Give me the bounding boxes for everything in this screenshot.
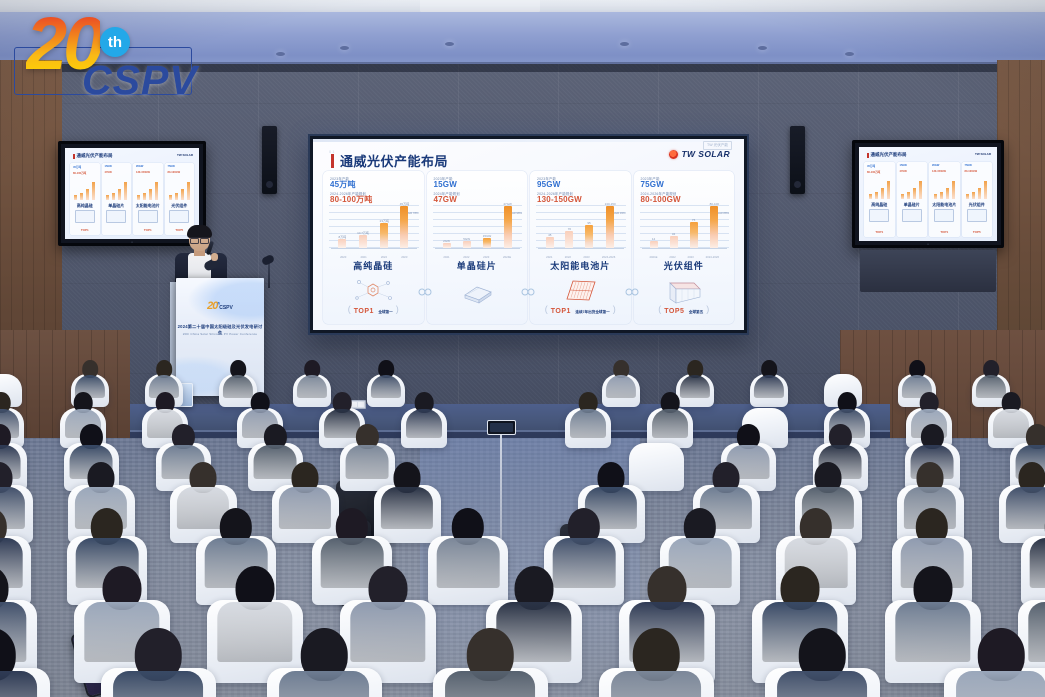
mini-bar <box>118 189 121 200</box>
mini-product-art <box>106 210 126 223</box>
mini-bar-chart <box>136 178 160 200</box>
side-screen-right[interactable]: 通威光伏产能布局 TW SOLAR 45万吨 80-100万吨 高纯晶硅 TOP… <box>852 140 1004 248</box>
mini-rank: TOP1 <box>70 228 100 232</box>
watermark-brand: CSPV <box>82 57 198 104</box>
bar-value-label: 15GW <box>483 234 492 238</box>
podium-logo: 20thCSPV <box>207 300 233 312</box>
mini-bar-chart <box>867 177 892 199</box>
audience-member <box>647 392 693 435</box>
mini-bar <box>92 182 95 200</box>
podium-logo-number: 20 <box>207 300 217 312</box>
bar <box>443 243 451 248</box>
audience-torso <box>0 671 37 697</box>
title-accent-bar <box>331 154 334 168</box>
mini-bar <box>181 189 184 200</box>
audience-torso <box>956 671 1045 697</box>
mini-logo-right: TW SOLAR <box>975 152 991 156</box>
audience-member <box>599 628 714 697</box>
bar-value-label: 80-100 <box>710 202 719 206</box>
panel-kpi-current: 2023年产能 75GW <box>641 176 664 189</box>
mini-kpi-current: 75GW <box>168 165 175 168</box>
audience-member <box>972 360 1010 396</box>
audience-member <box>101 628 216 697</box>
watermark-ordinal-badge: th <box>100 27 130 57</box>
bar-series: 8万吨 10.7万吨 23万吨 45万吨 <box>333 205 415 248</box>
kpi-value: 80-100万吨 <box>330 196 373 204</box>
slide-content: 01 通威光伏产能布局 TW 光伏产能 TW SOLAR 2023年产能 45万… <box>313 139 744 330</box>
audience-torso <box>570 409 606 438</box>
bracket-left-icon: ( <box>348 304 351 314</box>
downlight-4 <box>620 42 629 46</box>
audience-torso <box>279 671 369 697</box>
mini-bar <box>907 192 910 199</box>
bar-group: 5GW <box>463 237 471 249</box>
slide-panel-3: 2023年产能 95GW 2024-2026年产能规划 130-150GW CA… <box>530 171 631 324</box>
mini-kpi-current: 15GW <box>105 165 112 168</box>
mini-bar-chart <box>932 177 957 199</box>
audience-torso <box>652 409 688 438</box>
mini-kpi-current: 45万吨 <box>73 165 81 169</box>
conference-hall-photo: 01 通威光伏产能布局 TW 光伏产能 TW SOLAR 2023年产能 45万… <box>0 0 1045 697</box>
panel-bar-chart: CAGR 78% 8万吨 10.7万吨 23万吨 45万吨 2020202120… <box>329 205 419 253</box>
chain-link-icon <box>521 283 535 291</box>
bracket-right-icon: ) <box>396 304 399 314</box>
bar-group: 10.7万吨 <box>357 231 369 249</box>
bracket-right-icon: ) <box>613 304 616 314</box>
mic-stand <box>268 262 270 288</box>
panel-kpi-planned: 2024-2026年产能规划 80-100GW <box>641 191 681 204</box>
mini-bar <box>155 182 158 200</box>
mini-kpi-planned: 130-150GW <box>136 171 150 174</box>
bar-group: 14 <box>650 237 658 249</box>
mini-product-art <box>934 209 954 222</box>
panel-bar-chart: CAGR 98% 2GW 5GW 15GW 47GW 2021202220232… <box>433 205 523 253</box>
bracket-left-icon: ( <box>658 304 661 314</box>
bar-value-label: 5GW <box>463 237 470 241</box>
audience-member <box>898 360 936 396</box>
mini-product-art <box>967 209 987 222</box>
mini-bar <box>112 193 115 200</box>
mini-panel-1: 45万吨 80-100万吨 高纯晶硅 TOP1 <box>70 163 100 235</box>
audience-member <box>71 360 109 396</box>
slide-panel-row: 2023年产能 45万吨 2024-2026年产能规划 80-100万吨 CAG… <box>323 171 734 324</box>
mini-product-art <box>138 210 158 223</box>
audience-torso <box>371 375 401 399</box>
slide-panel-2: 2023年产能 15GW 2024年产能规划 47GW CAGR 98% 2GW… <box>427 171 528 324</box>
kpi-value: 47GW <box>434 196 460 204</box>
bracket-left-icon: ( <box>545 304 548 314</box>
mini-bar <box>952 181 955 199</box>
mini-panels-right: 45万吨 80-100万吨 高纯晶硅 TOP1 15GW 47GW 单晶硅片 9… <box>864 162 992 237</box>
rank-subtitle: 全球第一 <box>378 310 392 314</box>
audience-member <box>750 360 788 396</box>
mini-bar <box>881 188 884 199</box>
panel-kpi-current: 2023年产能 45万吨 <box>330 176 356 189</box>
bar <box>359 235 367 248</box>
cspv-watermark: 20 th CSPV <box>8 5 194 97</box>
mini-panel-2: 15GW 47GW 单晶硅片 <box>102 163 132 235</box>
mini-product-name: 单晶硅片 <box>102 203 132 209</box>
presenter-hand <box>211 253 218 261</box>
audience-torso <box>754 375 784 399</box>
panel-kpi-current: 2023年产能 95GW <box>537 176 560 189</box>
panel-rank: ( TOP1 连续7年出货全球第一 ) <box>530 300 631 318</box>
mini-bar <box>137 195 140 200</box>
mini-kpi-planned: 80-100万吨 <box>73 171 86 175</box>
audience-member <box>676 360 714 396</box>
chain-link-icon <box>418 283 432 291</box>
bar-series: 45 70 95 130-150 <box>540 205 622 248</box>
kpi-value: 95GW <box>537 181 560 189</box>
bar-group: 8万吨 <box>338 235 346 249</box>
glasses-icon <box>190 237 209 241</box>
mini-product-name: 光伏组件 <box>165 203 195 209</box>
bar-value-label: 23万吨 <box>380 219 389 223</box>
bar <box>504 206 512 248</box>
tw-solar-wordmark: TW SOLAR <box>681 149 730 159</box>
mini-bar <box>80 193 83 200</box>
slide-title-row: 通威光伏产能布局 <box>331 151 448 170</box>
mini-accent-bar <box>73 154 75 159</box>
bar-value-label: 2GW <box>443 239 450 243</box>
bar <box>565 231 573 248</box>
speaker-left <box>262 126 277 194</box>
panel-product-name: 高纯晶硅 <box>323 259 424 272</box>
bar <box>585 225 593 248</box>
bar <box>463 241 471 248</box>
rank-position: TOP1 <box>354 308 374 315</box>
mini-bar <box>901 194 904 199</box>
mini-panel-3: 95GW 130-150GW 太阳能电池片 TOP1 <box>133 163 163 235</box>
rank-subtitle: 连续7年出货全球第一 <box>575 310 609 314</box>
mini-bar <box>169 195 172 200</box>
mini-bar <box>940 192 943 199</box>
bar-value-label: 130-150 <box>605 202 616 206</box>
audience-torso <box>406 409 442 438</box>
bar-value-label: 45 <box>548 233 551 237</box>
audience-member <box>944 628 1045 697</box>
bar <box>400 206 408 248</box>
tripod-phone-camera <box>487 420 516 435</box>
audience-torso <box>777 671 867 697</box>
tw-solar-logo: TW SOLAR <box>669 149 730 159</box>
mini-panel-3: 95GW 130-150GW 太阳能电池片 TOP1 <box>929 162 960 237</box>
audience-member <box>219 360 257 396</box>
kpi-value: 80-100GW <box>641 196 681 204</box>
mini-bar <box>913 188 916 199</box>
bar-group: 95 <box>585 221 593 249</box>
bar <box>338 239 346 248</box>
panel-bar-chart: CAGR 88% 14 34 75 80-100 2021E2022202320… <box>640 205 730 253</box>
speaker-right <box>790 126 805 194</box>
mini-accent-bar <box>867 153 869 158</box>
downlight-5 <box>758 46 767 50</box>
mini-bar-chart <box>105 178 129 200</box>
mini-product-art <box>75 210 95 223</box>
screen-bezel-brand-right: ● <box>927 242 929 246</box>
bar-group: 34 <box>670 232 678 249</box>
mini-panel-2: 15GW 47GW 单晶硅片 <box>897 162 928 237</box>
mini-bar <box>106 195 109 200</box>
bar-group: 75 <box>690 218 698 249</box>
slide-top-strip <box>313 139 744 142</box>
panel-product-name: 单晶硅片 <box>427 259 528 272</box>
rank-subtitle: 全球第五 <box>689 310 703 314</box>
bar <box>710 206 718 248</box>
downlight-2 <box>340 46 349 50</box>
mini-bar <box>978 188 981 199</box>
mini-title-right: 通威光伏产能布局 <box>867 152 907 158</box>
audience-member <box>433 628 548 697</box>
kpi-value: 15GW <box>434 181 457 189</box>
mini-kpi-current: 95GW <box>932 164 939 167</box>
audience-torso <box>611 671 701 697</box>
side-screen-right-stand <box>860 250 996 292</box>
mini-product-name: 光伏组件 <box>962 202 993 208</box>
rank-position: TOP1 <box>551 308 571 315</box>
sun-icon <box>669 150 678 159</box>
mini-bar <box>984 181 987 199</box>
mini-bar <box>74 195 77 200</box>
audience-member <box>0 628 50 697</box>
rank-box: TOP1 连续7年出货全球第一 <box>551 300 610 318</box>
mini-bar <box>934 194 937 199</box>
main-presentation-screen[interactable]: 01 通威光伏产能布局 TW 光伏产能 TW SOLAR 2023年产能 45万… <box>308 134 749 335</box>
bar-group: 23万吨 <box>380 219 389 249</box>
mini-title-left: 通威光伏产能布局 <box>73 153 113 159</box>
podium-logo-brand: CSPV <box>219 305 233 311</box>
bar-value-label: 14 <box>652 237 655 241</box>
bar <box>380 223 388 248</box>
bar-value-label: 10.7万吨 <box>357 231 369 235</box>
rank-box: TOP5 全球第五 <box>664 300 703 318</box>
panel-kpi-current: 2023年产能 15GW <box>434 176 457 189</box>
mini-product-name: 高纯晶硅 <box>70 203 100 209</box>
mini-bar <box>149 189 152 200</box>
mini-bar-chart <box>965 177 990 199</box>
audience-member <box>293 360 331 396</box>
audience-member <box>602 360 640 396</box>
silicon-wafer-icon <box>451 273 503 307</box>
mini-kpi-planned: 130-150GW <box>932 170 946 173</box>
mini-bar <box>86 189 89 200</box>
mini-bar <box>887 181 890 199</box>
audience-member <box>565 392 611 435</box>
bar <box>606 206 614 248</box>
mini-kpi-planned: 47GW <box>105 171 112 174</box>
bar-group: 45 <box>546 233 554 249</box>
mini-rank: TOP1 <box>929 230 960 234</box>
panel-product-name: 太阳能电池片 <box>530 259 631 272</box>
mini-panel-1: 45万吨 80-100万吨 高纯晶硅 TOP1 <box>864 162 895 237</box>
mini-product-art <box>902 209 922 222</box>
mini-bar <box>972 192 975 199</box>
mini-bar <box>946 188 949 199</box>
bar-group: 45万吨 <box>400 202 409 249</box>
bar-value-label: 95 <box>587 221 590 225</box>
audience-member <box>367 360 405 396</box>
mini-product-art <box>169 210 189 223</box>
mini-rank: TOP1 <box>133 228 163 232</box>
wall-top-shadow <box>58 64 998 72</box>
kpi-value: 130-150GW <box>537 196 582 204</box>
audience-torso <box>445 671 535 697</box>
bar-value-label: 75 <box>692 218 695 222</box>
mini-bar <box>875 192 878 199</box>
mini-kpi-current: 75GW <box>965 164 972 167</box>
bar <box>483 238 491 248</box>
mini-product-name: 单晶硅片 <box>897 202 928 208</box>
downlight-6 <box>845 52 854 56</box>
bar-group: 47GW <box>503 202 512 249</box>
mini-bar <box>124 182 127 200</box>
mini-product-art <box>869 209 889 222</box>
bar-value-label: 70 <box>568 227 571 231</box>
mini-bar <box>143 193 146 200</box>
mini-bar <box>175 193 178 200</box>
mini-product-name: 高纯晶硅 <box>864 202 895 208</box>
audience-member <box>267 628 382 697</box>
slide-panel-1: 2023年产能 45万吨 2024-2026年产能规划 80-100万吨 CAG… <box>323 171 424 324</box>
slide-panel-4: 2023年产能 75GW 2024-2026年产能规划 80-100GW CAG… <box>634 171 735 324</box>
mini-panel-4: 75GW 80-100GW 光伏组件 TOP5 <box>165 163 195 235</box>
bar-group: 2GW <box>443 239 451 249</box>
mini-bar <box>869 194 872 199</box>
mini-logo-left: TW SOLAR <box>177 153 193 157</box>
podium-title-en: 20th China Solar Silicon & PV Power Conf… <box>176 332 264 336</box>
bar-group: 15GW <box>483 234 492 249</box>
panel-kpi-planned: 2024-2026年产能规划 130-150GW <box>537 191 582 204</box>
panel-product-name: 光伏组件 <box>634 259 735 272</box>
mini-rank: TOP5 <box>962 230 993 234</box>
bar-value-label: 8万吨 <box>339 235 347 239</box>
bar-value-label: 45万吨 <box>400 202 409 206</box>
slide-title: 通威光伏产能布局 <box>340 151 448 170</box>
mini-kpi-current: 95GW <box>136 165 143 168</box>
downlight-1 <box>276 52 285 56</box>
mini-bar <box>966 194 969 199</box>
kpi-value: 75GW <box>641 181 664 189</box>
mini-product-name: 太阳能电池片 <box>929 202 960 208</box>
bar <box>546 237 554 248</box>
bar-series: 2GW 5GW 15GW 47GW <box>437 205 519 248</box>
mini-kpi-current: 15GW <box>900 164 907 167</box>
screen-bezel-brand-left: ● <box>131 240 133 244</box>
mini-kpi-planned: 80-100GW <box>168 171 181 174</box>
mini-kpi-planned: 80-100万吨 <box>867 170 880 174</box>
mini-bar <box>919 181 922 199</box>
bar <box>650 241 658 248</box>
audience-torso <box>113 671 203 697</box>
panel-kpi-planned: 2024年产能规划 47GW <box>434 191 460 204</box>
bar-value-label: 34 <box>672 232 675 236</box>
side-screen-left-content: 通威光伏产能布局 TW SOLAR 45万吨 80-100万吨 高纯晶硅 TOP… <box>65 148 199 239</box>
mini-product-name: 太阳能电池片 <box>133 203 163 209</box>
bar <box>670 236 678 248</box>
bar-group: 80-100 <box>710 202 719 249</box>
audience-member <box>765 628 880 697</box>
mini-bar-chart <box>168 178 192 200</box>
mini-bar-chart <box>73 178 97 200</box>
audience-member <box>401 392 447 435</box>
panel-bar-chart: CAGR 45% 45 70 95 130-150 20212022202320… <box>536 205 626 253</box>
kpi-value: 45万吨 <box>330 181 356 189</box>
bracket-right-icon: ) <box>706 304 709 314</box>
bar-value-label: 47GW <box>503 202 512 206</box>
bar-group: 70 <box>565 227 573 249</box>
chain-link-icon <box>625 283 639 291</box>
mini-kpi-planned: 80-100GW <box>965 170 978 173</box>
downlight-3 <box>445 42 454 46</box>
bar <box>690 222 698 248</box>
mini-title-text: 通威光伏产能布局 <box>871 152 907 158</box>
mini-rank: TOP1 <box>864 230 895 234</box>
mini-panels-left: 45万吨 80-100万吨 高纯晶硅 TOP1 15GW 47GW 单晶硅片 9… <box>70 163 194 235</box>
panel-rank: ( TOP5 全球第五 ) <box>634 300 735 318</box>
mini-bar-chart <box>900 177 925 199</box>
mini-bar <box>187 182 190 200</box>
panel-kpi-planned: 2024-2026年产能规划 80-100万吨 <box>330 191 373 204</box>
rank-position: TOP5 <box>664 308 684 315</box>
bar-group: 130-150 <box>605 202 616 249</box>
panel-rank: ( TOP1 全球第一 ) <box>323 300 424 318</box>
mini-panel-4: 75GW 80-100GW 光伏组件 TOP5 <box>962 162 993 237</box>
mini-title-text: 通威光伏产能布局 <box>77 153 113 159</box>
side-screen-right-content: 通威光伏产能布局 TW SOLAR 45万吨 80-100万吨 高纯晶硅 TOP… <box>859 147 997 241</box>
mini-kpi-planned: 47GW <box>900 170 907 173</box>
audience-member <box>145 360 183 396</box>
rank-box: TOP1 全球第一 <box>354 300 393 318</box>
mini-kpi-current: 45万吨 <box>867 164 875 168</box>
bar-series: 14 34 75 80-100 <box>644 205 726 248</box>
